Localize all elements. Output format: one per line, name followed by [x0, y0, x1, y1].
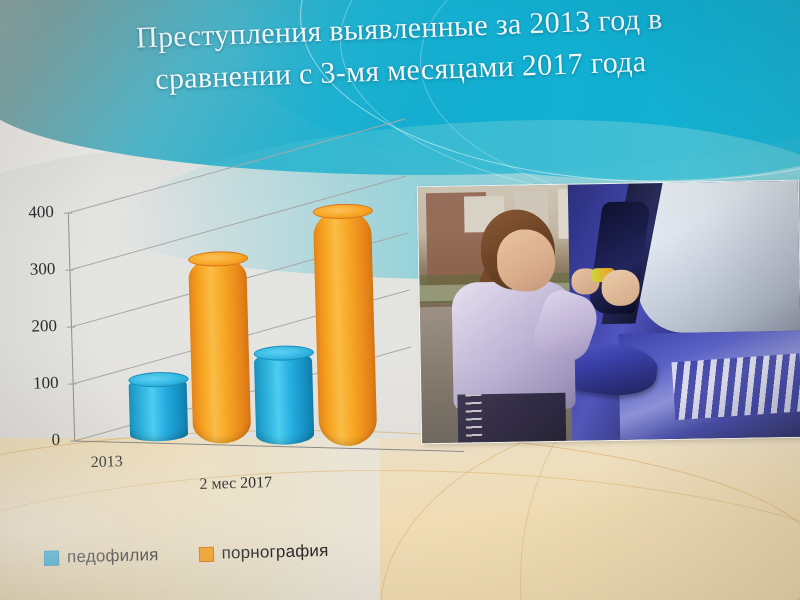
bar-порнография-2 мес 2017[interactable] [313, 209, 378, 447]
slide-photo [418, 181, 800, 444]
y-axis-tick-label: 400 [10, 202, 55, 223]
y-axis-tick-label: 100 [14, 373, 59, 394]
y-axis-tick-label: 200 [13, 316, 58, 337]
bar-порнография-2013[interactable] [188, 257, 251, 444]
bar-body [188, 257, 251, 444]
bar-body [313, 209, 378, 447]
screen-glare [0, 430, 300, 600]
y-axis-tick-label: 300 [11, 259, 56, 280]
bar-top-ellipse [313, 203, 373, 220]
photo-blur-overlay [418, 181, 800, 444]
presentation-slide: Преступления выявленные за 2013 год в ср… [0, 0, 800, 600]
